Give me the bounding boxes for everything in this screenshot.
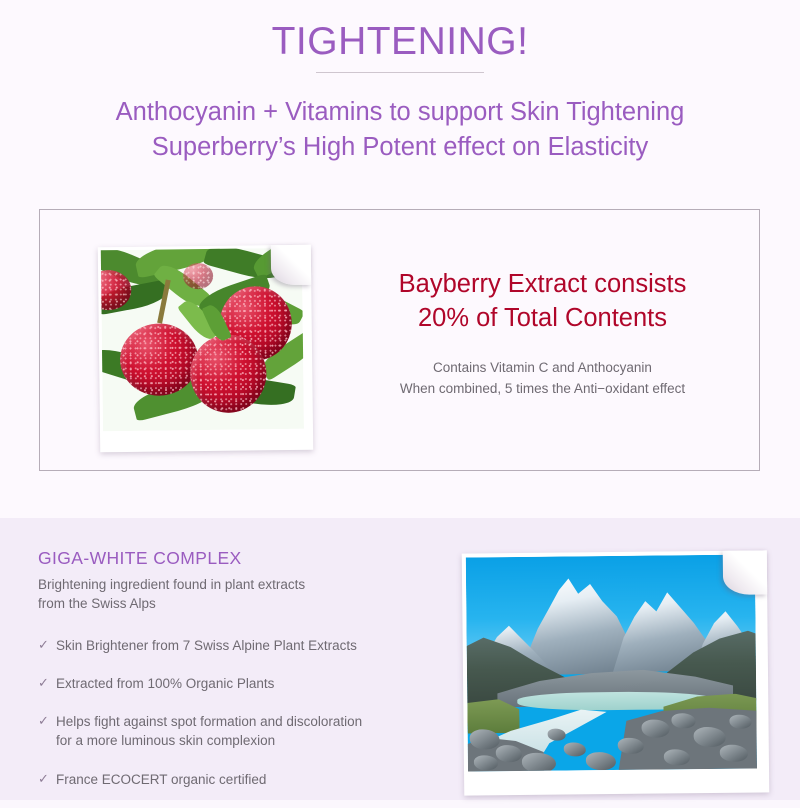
giga-white-text-block: GIGA-WHITE COMPLEX Brightening ingredien…: [38, 548, 438, 613]
alps-photo: [466, 555, 757, 772]
giga-white-benefit-list: ✓ Skin Brightener from 7 Swiss Alpine Pl…: [38, 636, 438, 808]
subtitle-line-1: Anthocyanin + Vitamins to support Skin T…: [0, 95, 800, 130]
alps-photo-frame: [462, 550, 770, 795]
giga-white-title: GIGA-WHITE COMPLEX: [38, 548, 438, 569]
list-item-line-1: Helps fight against spot formation and d…: [56, 712, 438, 731]
page-title: TIGHTENING!: [0, 0, 800, 63]
bayberry-subtext: Contains Vitamin C and Anthocyanin When …: [330, 335, 755, 400]
photo-corner-curl-icon: [723, 550, 767, 594]
bayberry-headline-line-2: 20% of Total Contents: [330, 302, 755, 336]
bayberry-subtext-line-1: Contains Vitamin C and Anthocyanin: [330, 358, 755, 379]
giga-white-description-line-2: from the Swiss Alps: [38, 594, 438, 613]
bayberry-photo-frame: [98, 245, 313, 453]
product-detail-page: TIGHTENING! Anthocyanin + Vitamins to su…: [0, 0, 800, 800]
photo-corner-curl-icon: [271, 245, 311, 285]
list-item: ✓ Skin Brightener from 7 Swiss Alpine Pl…: [38, 636, 438, 655]
check-icon: ✓: [38, 674, 49, 692]
bayberry-text-block: Bayberry Extract consists 20% of Total C…: [330, 268, 755, 400]
bayberry-headline: Bayberry Extract consists 20% of Total C…: [330, 268, 755, 335]
alps-illustration: [466, 555, 757, 772]
page-subtitle: Anthocyanin + Vitamins to support Skin T…: [0, 73, 800, 165]
giga-white-description: Brightening ingredient found in plant ex…: [38, 569, 438, 613]
check-icon: ✓: [38, 636, 49, 654]
header-section: TIGHTENING! Anthocyanin + Vitamins to su…: [0, 0, 800, 165]
list-item: ✓ Helps fight against spot formation and…: [38, 712, 438, 750]
list-item: ✓ Extracted from 100% Organic Plants: [38, 674, 438, 693]
giga-white-description-line-1: Brightening ingredient found in plant ex…: [38, 575, 438, 594]
list-item: ✓ France ECOCERT organic certified: [38, 770, 438, 789]
list-item-line-2: for a more luminous skin complexion: [56, 731, 438, 750]
list-item-line-1: Extracted from 100% Organic Plants: [56, 674, 438, 693]
subtitle-line-2: Superberry’s High Potent effect on Elast…: [0, 130, 800, 165]
check-icon: ✓: [38, 770, 49, 788]
list-item-line-1: Skin Brightener from 7 Swiss Alpine Plan…: [56, 636, 438, 655]
check-icon: ✓: [38, 712, 49, 730]
bayberry-headline-line-1: Bayberry Extract consists: [330, 268, 755, 302]
list-item-line-1: France ECOCERT organic certified: [56, 770, 438, 789]
bayberry-subtext-line-2: When combined, 5 times the Anti−oxidant …: [330, 379, 755, 400]
